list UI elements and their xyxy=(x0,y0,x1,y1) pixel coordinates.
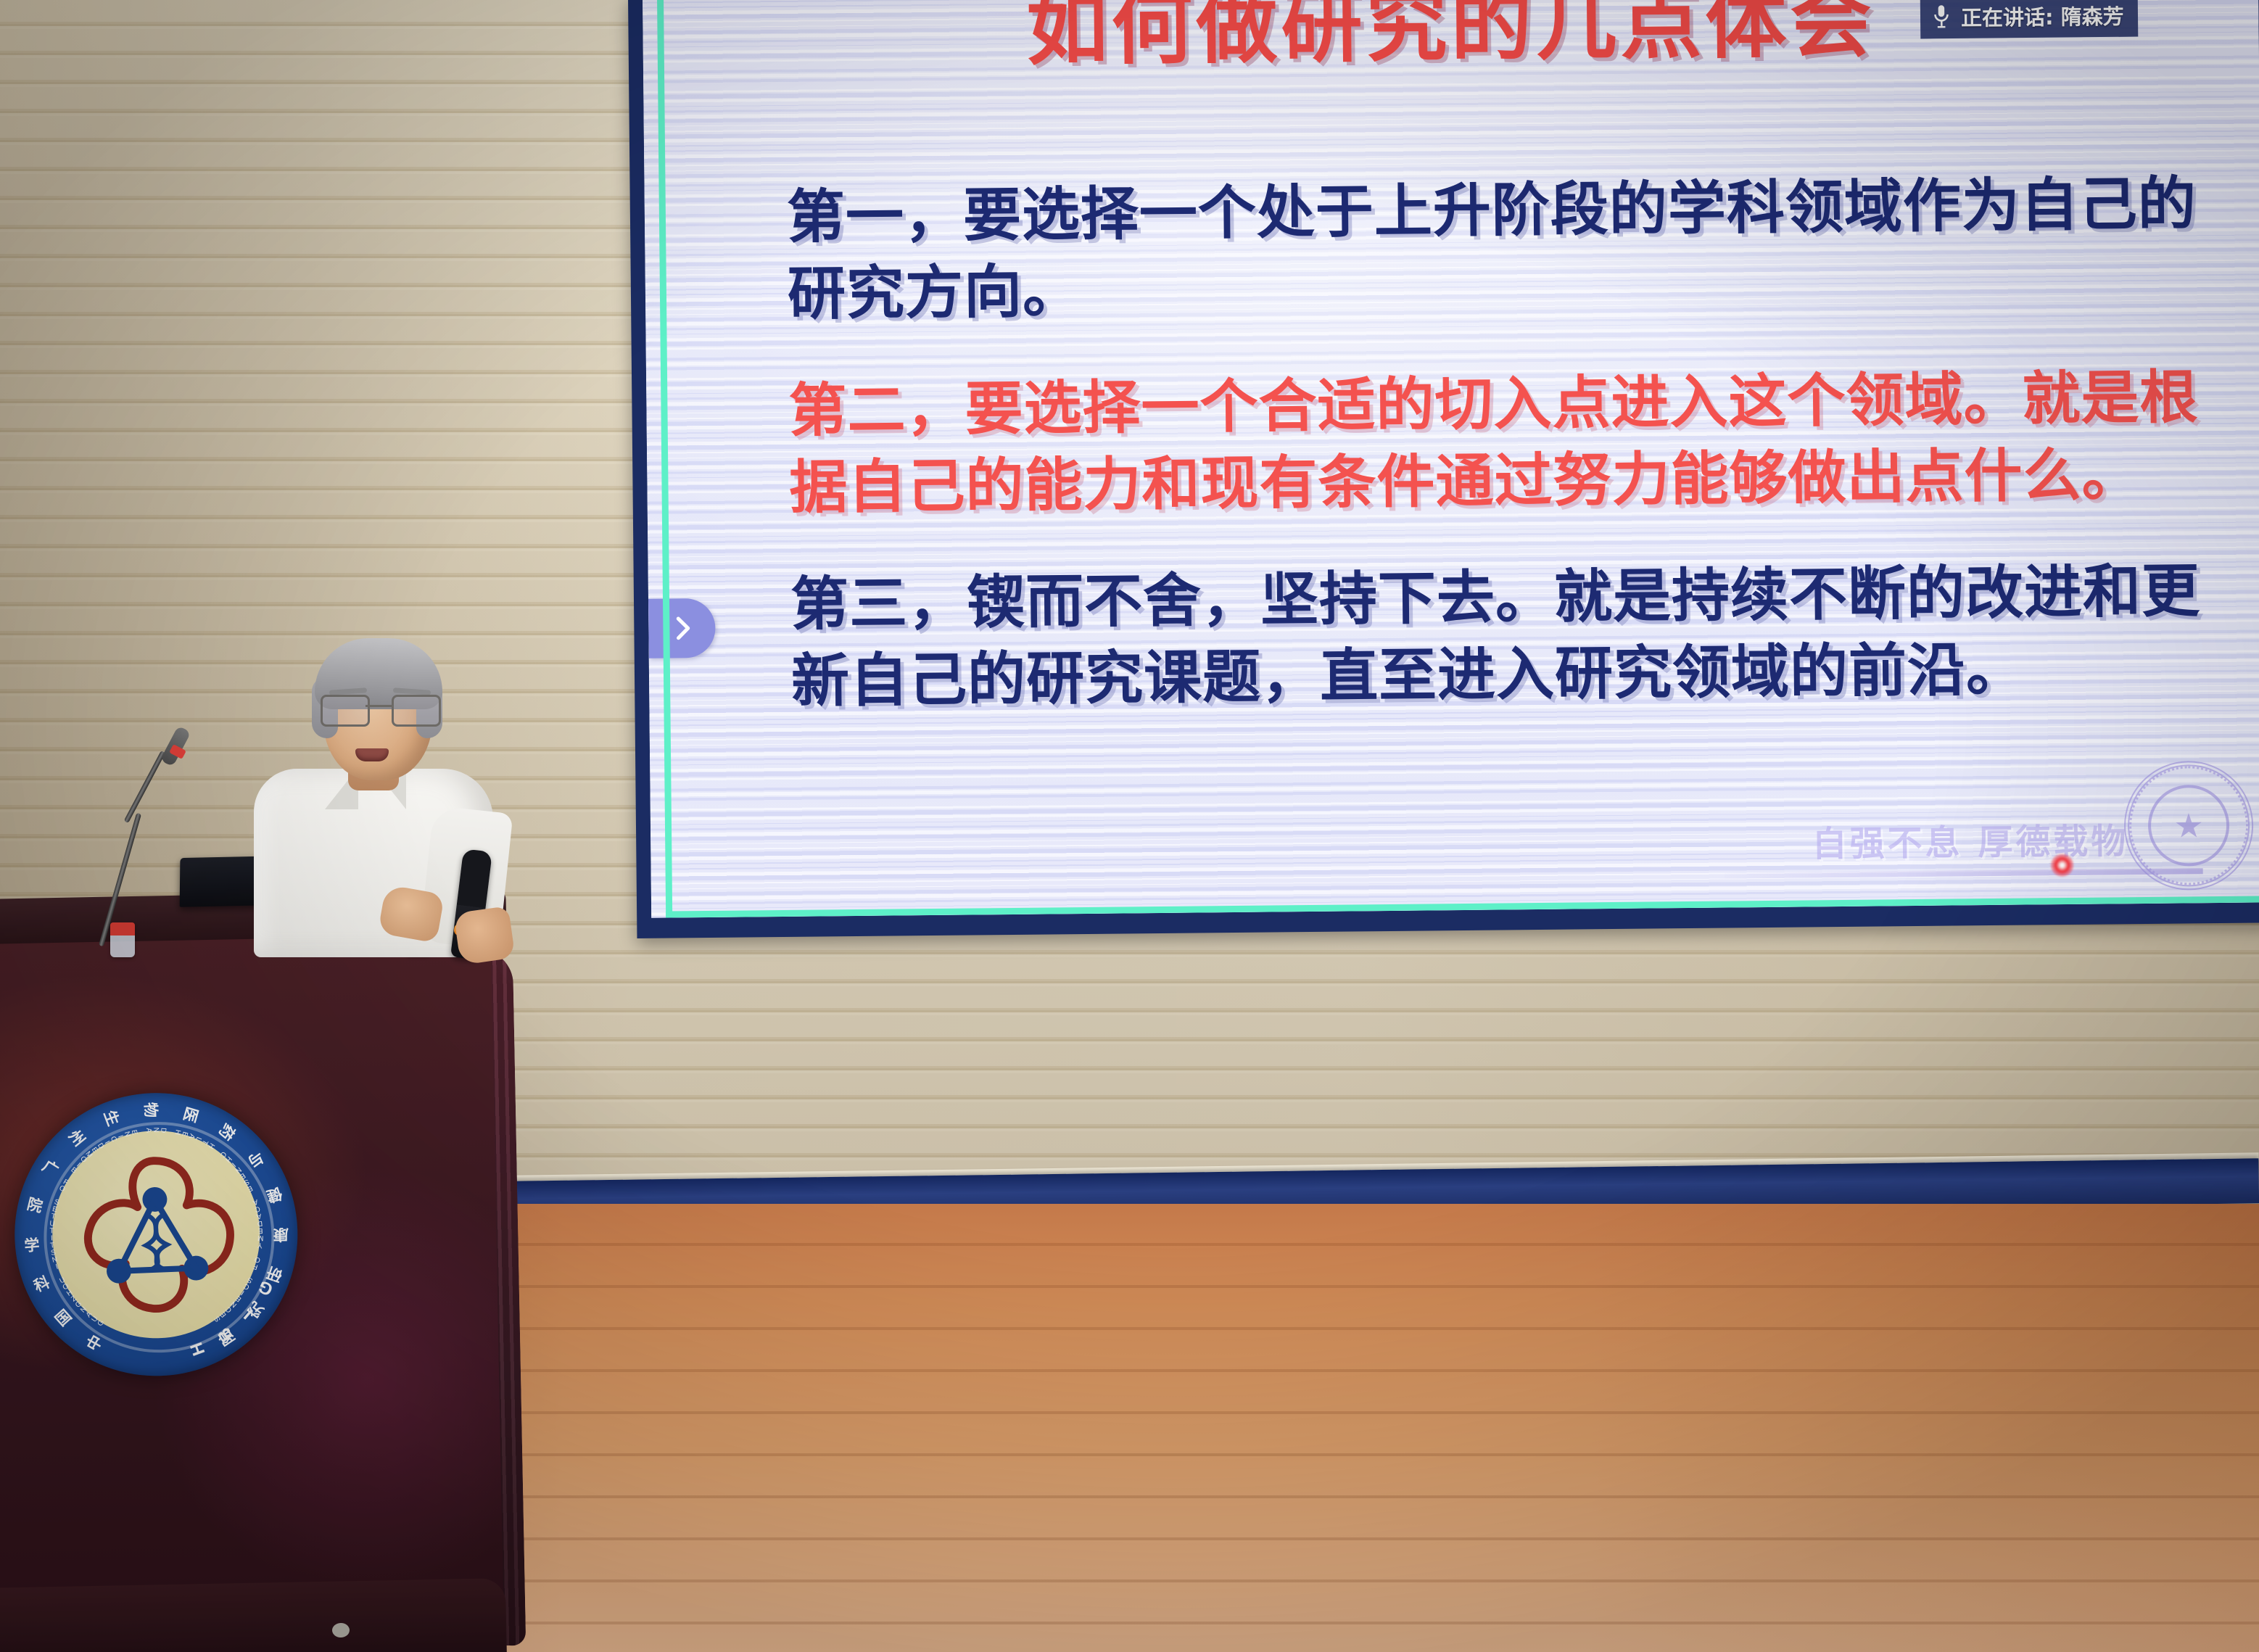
active-speaker-label: 正在讲话: 隋森芳 xyxy=(1961,0,2124,32)
gibh-emblem-icon: 中国科学院广州生物医药与健康研究院GUANGZHOU INSTITUTES OF… xyxy=(9,1088,303,1382)
projection-screen: 如何做研究的几点体会 第一，要选择一个处于上升阶段的学科领域作为自己的研究方向。… xyxy=(643,0,2259,918)
emblem-ring-char: 学 xyxy=(23,1234,40,1257)
emblem-ring-char: 广 xyxy=(38,1155,63,1181)
slide-body: 第一，要选择一个处于上升阶段的学科领域作为自己的研究方向。 第二，要选择一个合适… xyxy=(786,165,2250,761)
screenshot-stage: 如何做研究的几点体会 第一，要选择一个处于上升阶段的学科领域作为自己的研究方向。… xyxy=(0,0,2259,1652)
emblem-ring-char: T xyxy=(49,1227,54,1235)
seal-outer-ring xyxy=(2128,766,2249,886)
glasses-bridge xyxy=(366,705,392,707)
emblem-ring-char: 中 xyxy=(81,1331,107,1355)
water-bottle-left xyxy=(110,922,135,957)
speaker-mouth xyxy=(355,748,389,761)
glasses-lens-right xyxy=(392,695,441,727)
emblem-ring-char: I xyxy=(51,1234,53,1242)
emblem-ring-char: 物 xyxy=(140,1102,162,1118)
speaker-person xyxy=(239,638,544,943)
tsinghua-motto: 自强不息 厚德载物 xyxy=(1812,812,2128,866)
emblem-ring-char: H xyxy=(186,1339,210,1358)
emblem-ring-char: 医 xyxy=(178,1104,204,1126)
lectern-podium: 中国科学院广州生物医药与健康研究院GUANGZHOU INSTITUTES OF… xyxy=(0,894,535,1652)
emblem-ring-char: I xyxy=(54,1263,59,1271)
emblem-ring-char: 与 xyxy=(244,1147,269,1173)
speaker-right-hand xyxy=(453,906,515,965)
podium-front-panel: 中国科学院广州生物医药与健康研究院GUANGZHOU INSTITUTES OF… xyxy=(0,927,505,1652)
slide-paragraph-1: 第一，要选择一个处于上升阶段的学科领域作为自己的研究方向。 xyxy=(786,165,2245,332)
slide-watermark: 自强不息 厚德载物 xyxy=(1812,812,2128,866)
slide-paragraph-2: 第二，要选择一个合适的切入点进入这个领域。就是根据自己的能力和现有条件通过努力能… xyxy=(788,359,2247,526)
glasses-lens-left xyxy=(321,695,370,727)
emblem-ring-char: T xyxy=(50,1242,55,1250)
emblem-ring-char: 院 xyxy=(25,1192,45,1217)
chevron-right-icon xyxy=(667,614,696,643)
speaker-glasses-icon xyxy=(319,695,439,724)
emblem-ring-char: 生 xyxy=(99,1107,125,1128)
active-speaker-badge: 正在讲话: 隋森芳 xyxy=(1920,0,2139,38)
emblem-ring-char: 科 xyxy=(30,1271,53,1297)
emblem-ring-char: E xyxy=(130,1129,139,1136)
presentation-slide: 如何做研究的几点体会 第一，要选择一个处于上升阶段的学科领域作为自己的研究方向。… xyxy=(643,0,2259,918)
emblem-ring-char: Y xyxy=(257,1241,263,1250)
laser-pointer-dot xyxy=(2050,854,2073,877)
emblem-ring-text: 中国科学院广州生物医药与健康研究院GUANGZHOU INSTITUTES OF… xyxy=(9,1088,303,1382)
emblem-ring-char: 康 xyxy=(273,1224,289,1246)
watermark-underline xyxy=(1725,868,2203,878)
emblem-ring-char: 州 xyxy=(64,1125,91,1150)
slide-paragraph-3: 第三，锲而不舍，坚持下去。就是持续不断的改进和更新自己的研究课题，直至进入研究领… xyxy=(790,553,2250,719)
emblem-ring-char: D xyxy=(159,1128,167,1133)
emblem-ring-char: F xyxy=(62,1178,70,1187)
emblem-ring-char: H xyxy=(207,1141,216,1150)
emblem-ring-char: 国 xyxy=(50,1305,76,1331)
emblem-ring-char: S xyxy=(50,1249,57,1257)
projection-screen-frame: 如何做研究的几点体会 第一，要选择一个处于上升阶段的学科领域作为自己的研究方向。… xyxy=(628,0,2259,938)
emblem-ring-char: S xyxy=(213,1315,223,1323)
panel-toggle-button[interactable] xyxy=(648,598,716,658)
emblem-ring-char: 健 xyxy=(264,1183,285,1208)
microphone-icon xyxy=(1932,4,1951,29)
tsinghua-seal-icon: ★ xyxy=(2123,761,2254,891)
emblem-ring-char: S xyxy=(53,1198,60,1207)
emblem-ring-char: 药 xyxy=(214,1120,241,1144)
emblem-ring-char: E xyxy=(246,1184,254,1193)
podium-base xyxy=(0,1578,507,1652)
emblem-ring-char: F xyxy=(252,1262,259,1271)
